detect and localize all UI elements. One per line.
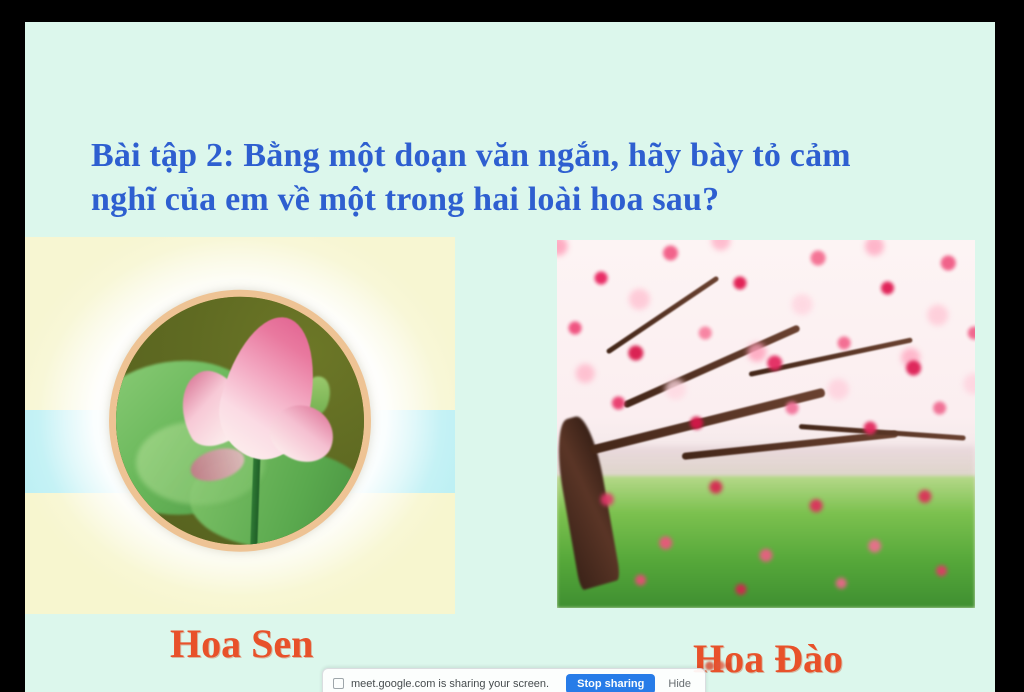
caption-hoa-dao: Hoa Đào xyxy=(693,635,843,682)
letterbox-left xyxy=(0,0,25,692)
lotus-photo xyxy=(25,237,455,614)
peach-blossom-figure xyxy=(557,240,975,608)
lotus-circular-frame xyxy=(109,289,371,551)
presentation-slide: Bài tập 2: Bằng một doạn văn ngắn, hãy b… xyxy=(25,22,995,692)
stop-sharing-button[interactable]: Stop sharing xyxy=(566,674,655,692)
screen-capture-frame: Bài tập 2: Bằng một doạn văn ngắn, hãy b… xyxy=(0,0,1024,692)
letterbox-top xyxy=(0,0,1024,22)
hide-button[interactable]: Hide xyxy=(662,674,697,692)
slide-title-line-1: Bài tập 2: Bằng một doạn văn ngắn, hãy b… xyxy=(91,134,961,178)
screen-share-icon xyxy=(333,678,344,689)
slide-title-line-2: nghĩ của em về một trong hai loài hoa sa… xyxy=(91,178,961,222)
caption-hoa-sen: Hoa Sen xyxy=(170,620,313,667)
peach-blossom-canopy xyxy=(557,240,975,483)
slide-title: Bài tập 2: Bằng một doạn văn ngắn, hãy b… xyxy=(91,134,961,222)
screen-share-message: meet.google.com is sharing your screen. xyxy=(351,678,559,690)
peach-lower-blossoms xyxy=(557,453,975,608)
lotus-figure xyxy=(25,237,455,614)
letterbox-right xyxy=(995,0,1024,692)
screen-share-notification-bar: meet.google.com is sharing your screen. … xyxy=(322,668,706,692)
peach-blossom-photo xyxy=(557,240,975,608)
cursor-artifact xyxy=(705,660,731,670)
